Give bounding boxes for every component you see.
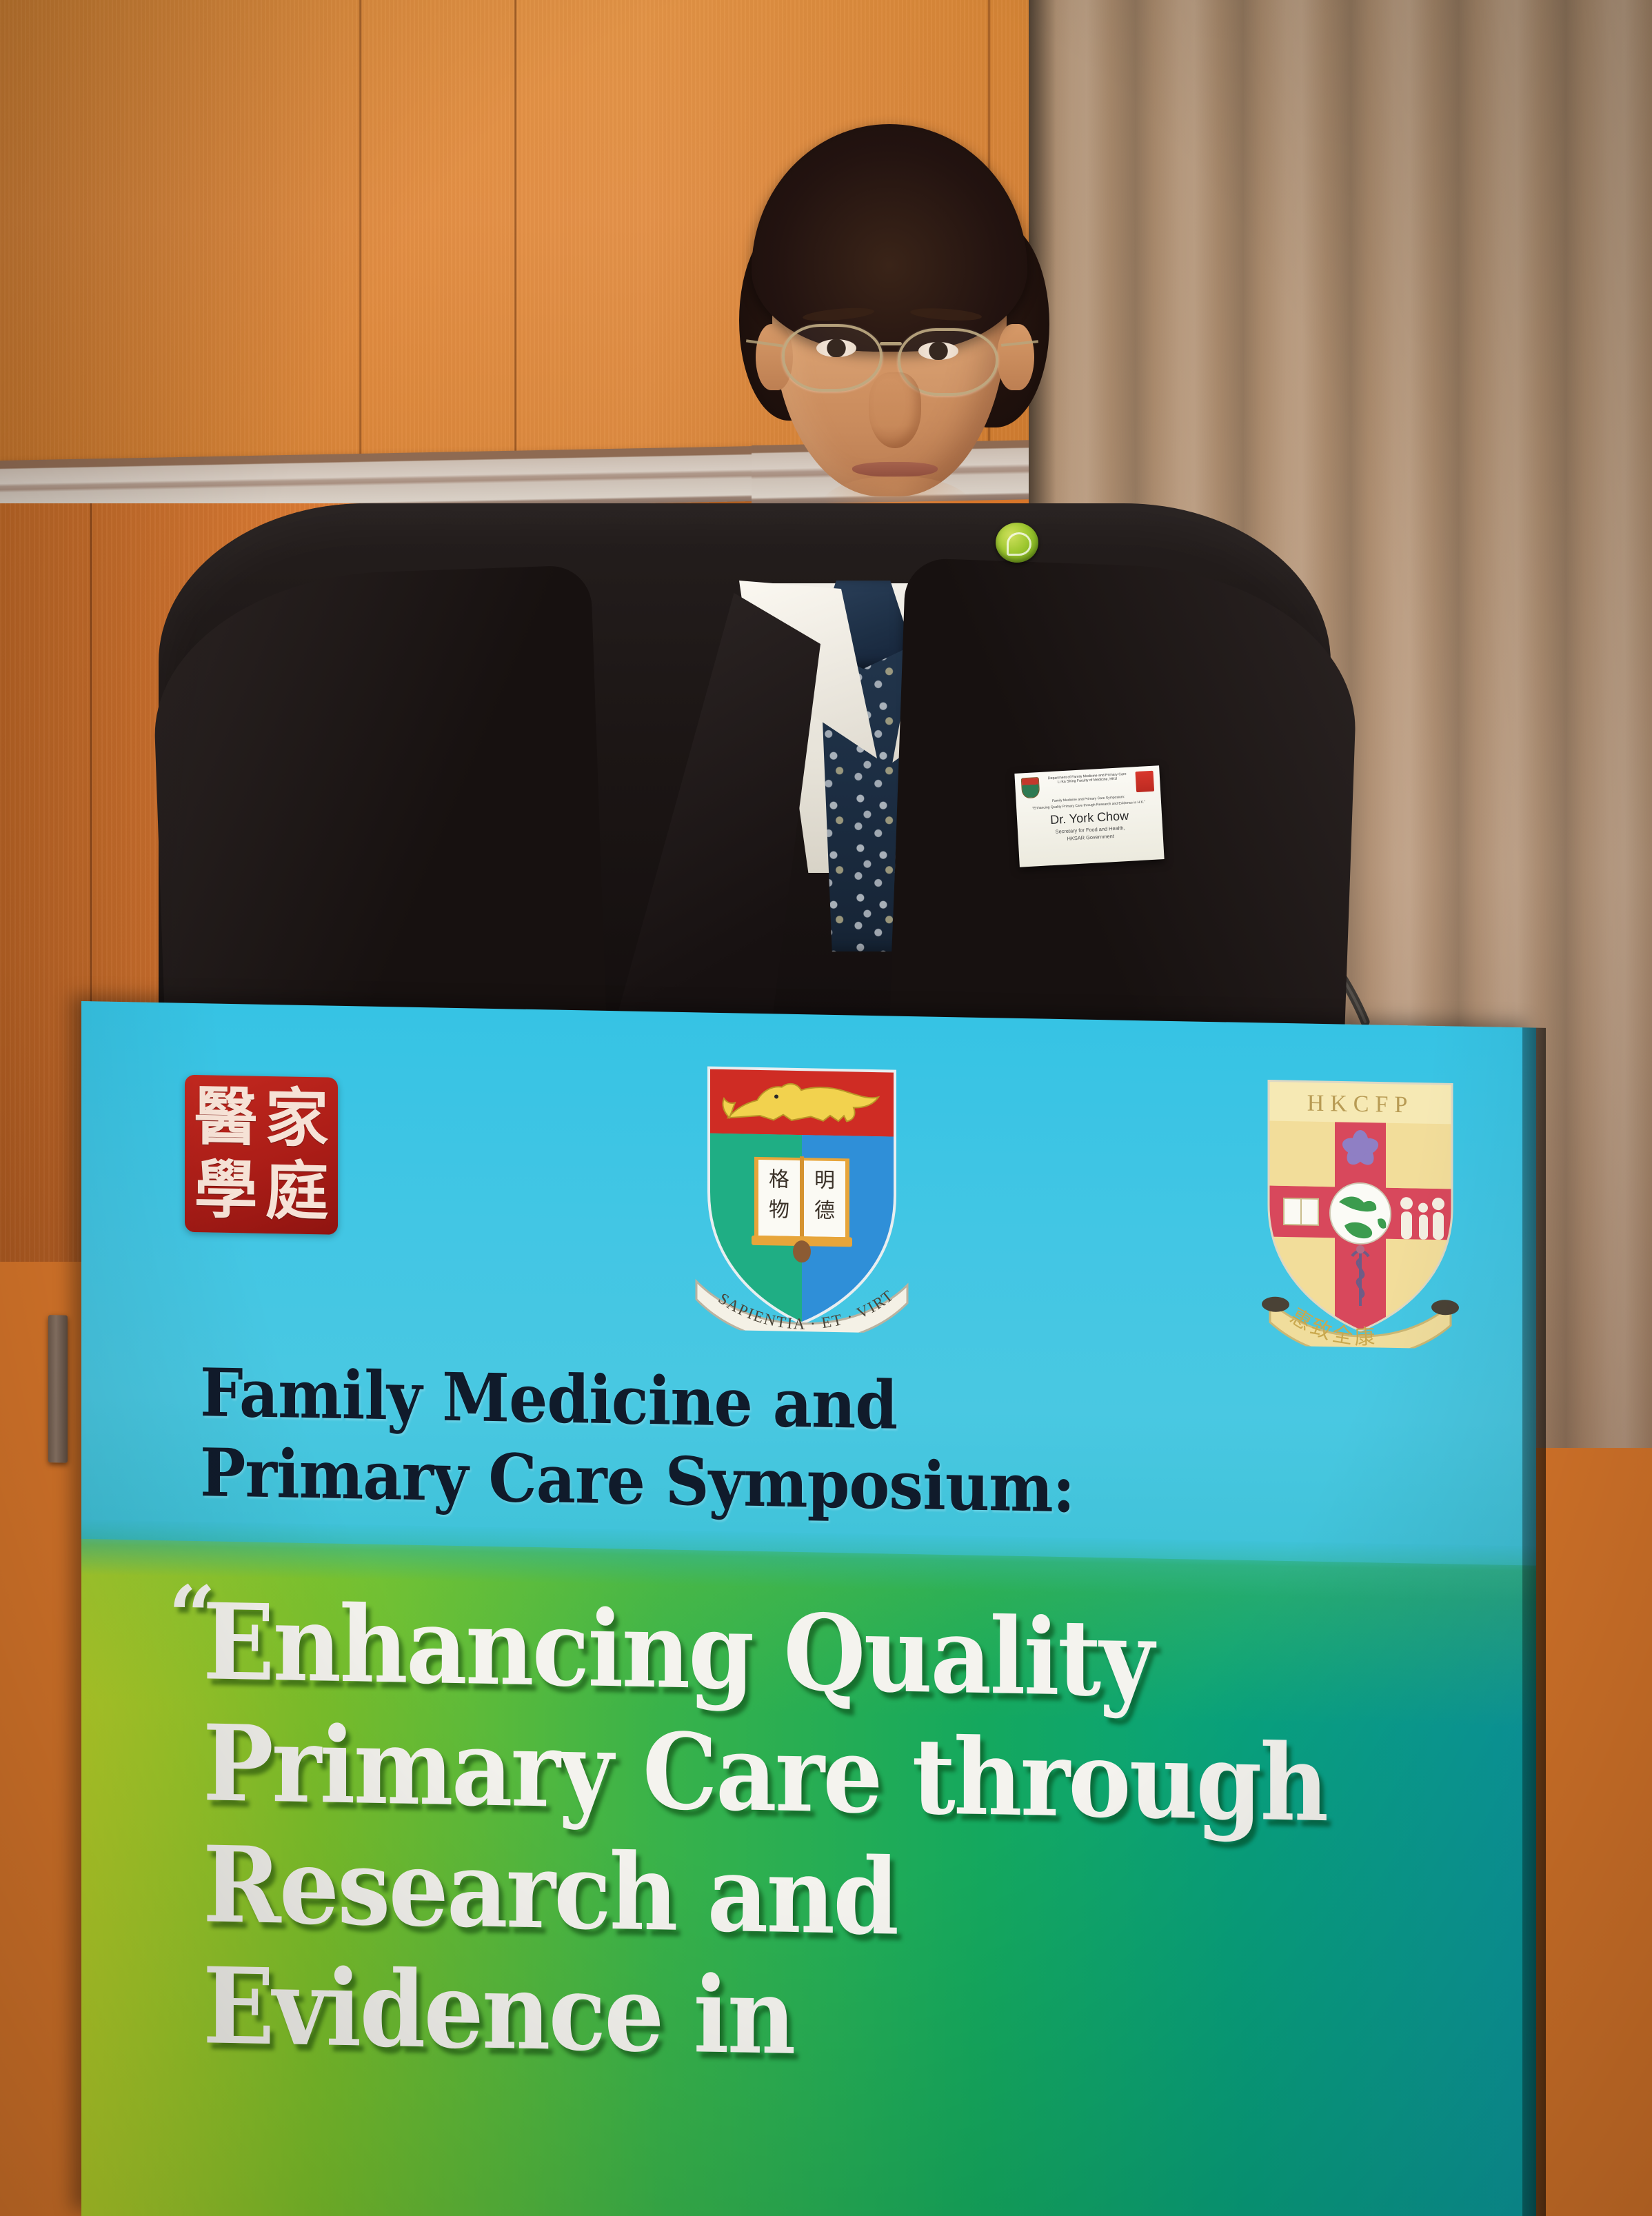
- mouth: [852, 462, 938, 477]
- banner-theme-line-3: Research and: [203, 1822, 897, 1958]
- badge-header-text: Department of Family Medicine and Primar…: [1043, 772, 1132, 786]
- hku-crest: 格 物 明 德 SAPIENTIA · ET · VIRTUS: [688, 1054, 916, 1333]
- family-medicine-chinese-seal: 醫 家 學 庭: [185, 1075, 338, 1235]
- nose: [869, 372, 921, 448]
- seal-char-3: 學: [194, 1161, 257, 1220]
- svg-text:格: 格: [769, 1167, 789, 1192]
- wall-panel-seam: [359, 0, 362, 483]
- seal-char-1: 醫: [194, 1088, 257, 1147]
- banner-title-line-1: Family Medicine and: [200, 1353, 897, 1444]
- svg-text:德: 德: [814, 1198, 835, 1223]
- banner-theme-line-1: Enhancing Quality: [203, 1580, 1152, 1720]
- seal-char-4: 庭: [265, 1162, 328, 1222]
- hair: [752, 124, 1027, 352]
- hkcfp-crest: HKCFP 惠致全康: [1253, 1069, 1467, 1349]
- banner-title-line-2: Primary Care Symposium:: [200, 1433, 1074, 1527]
- lens-left: [782, 324, 883, 392]
- lapel-pin: [996, 523, 1038, 563]
- logo-row: 醫 家 學 庭: [81, 1042, 1536, 1359]
- glasses-bridge: [880, 342, 902, 345]
- name-badge: Department of Family Medicine and Primar…: [1014, 765, 1164, 867]
- badge-stamp-icon: [1135, 771, 1154, 792]
- photo-scene: Department of Family Medicine and Primar…: [0, 0, 1652, 2216]
- svg-text:物: 物: [769, 1198, 789, 1222]
- banner-theme-line-4: Evidence in: [203, 1944, 794, 2078]
- speaker: Department of Family Medicine and Primar…: [386, 117, 1338, 1096]
- podium: 醫 家 學 庭: [81, 1001, 1536, 2216]
- badge-crest-icon: [1021, 777, 1040, 798]
- seal-char-2: 家: [265, 1089, 328, 1149]
- podium-side-handle: [48, 1315, 68, 1463]
- ear-right: [997, 324, 1034, 390]
- banner-theme-line-2: Primary Care through: [203, 1701, 1327, 1845]
- svg-text:明: 明: [814, 1168, 835, 1193]
- hkcfp-acronym: HKCFP: [1307, 1091, 1414, 1118]
